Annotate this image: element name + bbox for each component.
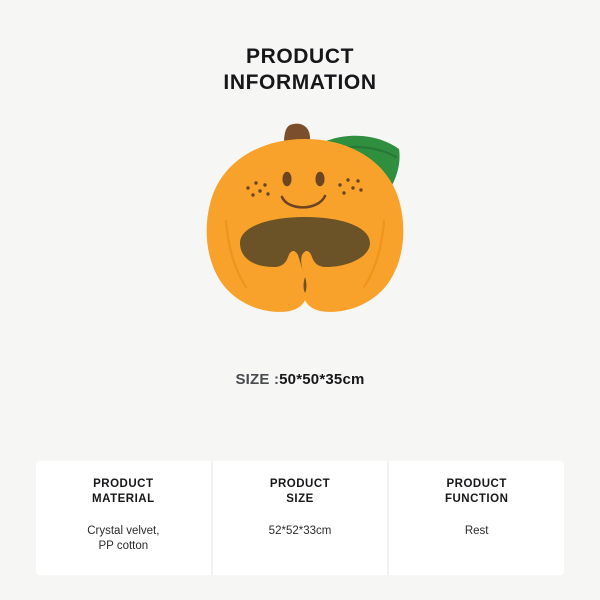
spec-column-size: PRODUCT SIZE 52*52*33cm xyxy=(211,461,388,575)
spec-column-function: PRODUCT FUNCTION Rest xyxy=(387,461,564,575)
product-illustration xyxy=(190,105,420,325)
spec-header-material: PRODUCT MATERIAL xyxy=(92,477,155,507)
size-caption-value: 50*50*35cm xyxy=(279,371,364,388)
spec-column-material: PRODUCT MATERIAL Crystal velvet, PP cott… xyxy=(36,461,211,575)
page-title: PRODUCT INFORMATION xyxy=(0,44,600,96)
orange-plush-illustration xyxy=(190,105,420,325)
page-title-line-1: PRODUCT xyxy=(0,44,600,70)
spec-value-size: 52*52*33cm xyxy=(269,524,332,539)
spec-header-function: PRODUCT FUNCTION xyxy=(445,477,508,507)
left-eye-icon xyxy=(282,172,291,186)
size-caption-key: SIZE : xyxy=(235,371,279,388)
size-caption: SIZE :50*50*35cm xyxy=(0,371,600,388)
spec-value-function: Rest xyxy=(465,524,489,539)
spec-table: PRODUCT MATERIAL Crystal velvet, PP cott… xyxy=(36,461,564,575)
right-eye-icon xyxy=(315,172,324,186)
product-information-page: PRODUCT INFORMATION xyxy=(0,0,600,600)
spec-header-size: PRODUCT SIZE xyxy=(270,477,330,507)
spec-value-material: Crystal velvet, PP cotton xyxy=(87,524,159,554)
page-title-line-2: INFORMATION xyxy=(0,70,600,96)
